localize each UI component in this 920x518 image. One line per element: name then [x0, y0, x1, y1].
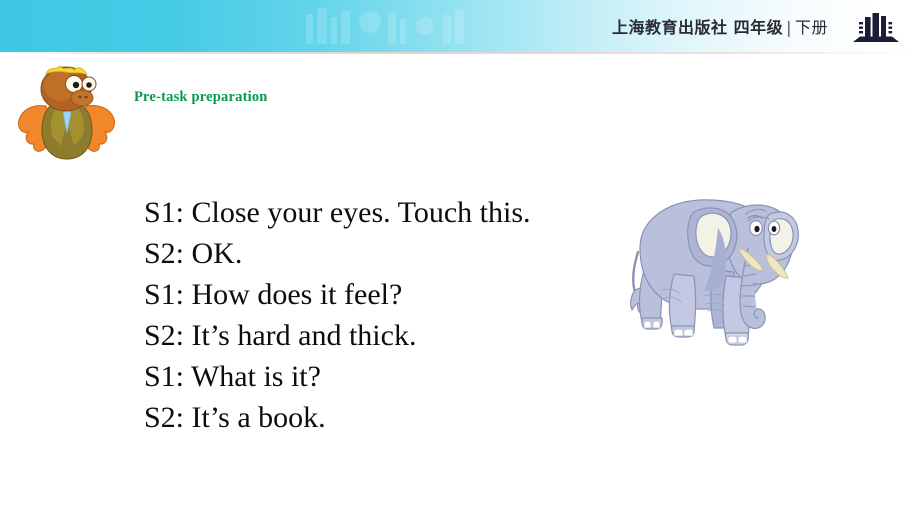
dialogue-block: S1: Close your eyes. Touch this. S2: OK.…: [144, 192, 614, 438]
header-volume: 下册: [795, 18, 828, 37]
slide: 上海教育出版社 四年级|下册: [0, 0, 920, 518]
header-divider-line: [0, 52, 920, 54]
header-grade: 四年级: [734, 18, 784, 37]
dialogue-line: S2: It’s hard and thick.: [144, 315, 614, 356]
dialogue-line: S2: It’s a book.: [144, 397, 614, 438]
header-title: 上海教育出版社 四年级|下册: [612, 14, 828, 38]
header-publisher: 上海教育出版社: [612, 18, 728, 37]
owl-teacher-mascot-icon: [16, 62, 120, 162]
dialogue-line: S1: Close your eyes. Touch this.: [144, 192, 614, 233]
books-on-shelf-icon: [850, 8, 902, 46]
dialogue-line: S1: What is it?: [144, 356, 614, 397]
dialogue-line: S1: How does it feel?: [144, 274, 614, 315]
dialogue-line: S2: OK.: [144, 233, 614, 274]
elephant-illustration-icon: [622, 178, 806, 348]
header-watermark-icon: [300, 4, 480, 50]
header-separator: |: [783, 18, 795, 37]
section-label: Pre-task preparation: [134, 89, 268, 106]
